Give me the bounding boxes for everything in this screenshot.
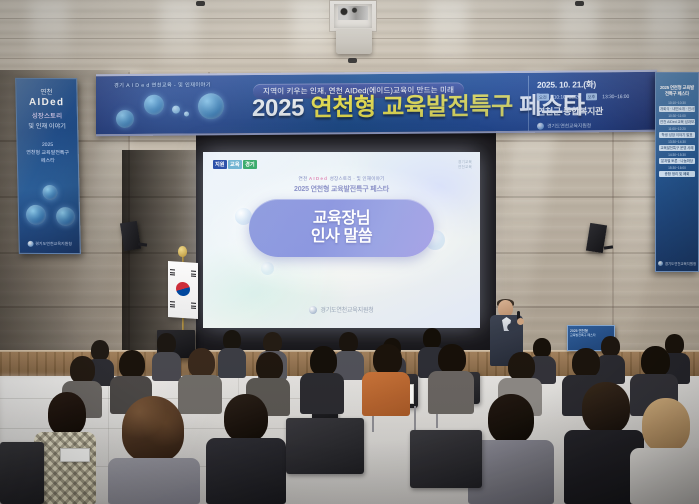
decorative-orb	[184, 111, 189, 116]
audience-chair	[410, 430, 482, 488]
banner-time-am: 10:10~12:20	[554, 94, 581, 100]
audience-member	[152, 333, 181, 381]
left-banner-sub1: 2025	[17, 142, 77, 148]
ceiling-light	[348, 58, 357, 63]
slide-footer: 경기도연천교육지원청	[203, 305, 480, 314]
projector-body	[336, 30, 372, 54]
decorative-orb	[144, 95, 164, 115]
program-row-item: 개회식 · 내빈소개 · 인사말씀	[659, 106, 695, 112]
banner-info-block: 2025. 10. 21.(화) 오전 10:10~12:20 오후 13:30…	[528, 75, 654, 132]
flag-finial	[178, 246, 187, 257]
banner-small-title: 경기 A I D e d 연천교육 - 및 인재이야기	[114, 81, 254, 89]
decorative-orb	[198, 93, 224, 119]
banner-time-pm: 13:30~16:00	[602, 94, 629, 100]
program-row-time: 13:30~14:30	[659, 140, 695, 144]
left-banner-line1: 연천	[16, 86, 76, 96]
slide-subtitle: 2025 연천형 교육발전특구 페스타	[203, 184, 480, 194]
program-row-time: 10:10~10:30	[659, 101, 695, 105]
left-banner-sub2: 연천형 교육발전특구	[18, 149, 78, 156]
program-row-time: 15:30~16:00	[659, 166, 695, 170]
program-row: 10:10~10:30개회식 · 내빈소개 · 인사말씀	[659, 101, 695, 112]
banner-chip-am: 오전	[537, 94, 549, 101]
korean-flag	[168, 261, 198, 319]
conference-photo-scene: 연천 AIDed 성장스토리 및 인재 이야기 2025 연천형 교육발전특구 …	[0, 0, 699, 504]
presenter-hand	[517, 318, 524, 325]
ceiling-light	[575, 1, 584, 6]
audience-member-blonde	[630, 398, 699, 504]
audience-member	[300, 346, 344, 414]
program-banner-org: 경기도연천교육지원청	[656, 261, 698, 266]
decorative-orb	[172, 106, 180, 114]
banner-date: 2025. 10. 21.(화)	[537, 78, 654, 91]
program-row-item: 분과별 토론 · 나눔마당	[659, 158, 695, 164]
org-mark-icon	[658, 261, 663, 266]
org-mark-icon	[309, 306, 317, 314]
left-banner-line2: AIDed	[17, 97, 77, 108]
program-row-item: 교육발전특구 운영 사례	[659, 145, 695, 151]
main-stage-banner: 경기 A I D e d 연천교육 - 및 인재이야기 지역이 키우는 인재, …	[96, 70, 657, 136]
presentation-slide: 지원 교육 경기 경기교육 연천교육 연천 AIDed 성장스토리 · 및 인재…	[203, 152, 480, 328]
left-banner-line4: 및 인재 이야기	[17, 121, 77, 130]
taeguk-symbol	[176, 282, 190, 297]
decorative-bubble	[261, 262, 274, 275]
banner-highlight: 연천형 교육발전특구	[311, 93, 513, 122]
program-row: 15:30~16:00종합 정리 및 폐회	[659, 166, 695, 177]
slide-title-line2: 인사 말씀	[311, 228, 372, 246]
banner-venue: 연천군 종합복지관	[537, 104, 654, 118]
decorative-orb	[116, 110, 134, 128]
program-banner-title: 2025 연천형 교육발전특구 페스타	[659, 85, 695, 97]
projection-screen: 지원 교육 경기 경기교육 연천교육 연천 AIDed 성장스토리 · 및 인재…	[203, 152, 480, 328]
slide-title-line1: 교육장님	[313, 210, 370, 228]
program-row-time: 11:00~12:20	[659, 127, 695, 131]
program-row-time: 14:30~15:30	[659, 153, 695, 157]
decorative-orb	[56, 207, 75, 226]
projector-mount	[329, 0, 377, 32]
audience-chair	[286, 418, 364, 474]
program-row: 10:30~11:00연천 AIDed 교육 성과보고	[659, 114, 695, 125]
org-mark-icon	[537, 123, 544, 130]
right-program-banner: 2025 연천형 교육발전특구 페스타 10:10~10:30개회식 · 내빈소…	[655, 72, 699, 272]
left-banner-sub3: 페스타	[18, 157, 78, 164]
slide-title-pill: 교육장님 인사 말씀	[249, 199, 434, 257]
slide-top-right-marks: 경기교육 연천교육	[458, 160, 472, 170]
program-row-item: 종합 정리 및 폐회	[659, 171, 695, 177]
banner-org: 경기도연천교육지원청	[537, 122, 654, 130]
poster-title: 2025 연천형	[568, 326, 614, 333]
program-row-item: 학생 성장 이야기 발표	[659, 132, 695, 138]
slide-logo: 지원 교육 경기	[213, 160, 257, 169]
program-row: 14:30~15:30분과별 토론 · 나눔마당	[659, 153, 695, 164]
slide-kicker: 연천 AIDed 성장스토리 · 및 인재이야기	[203, 176, 480, 182]
program-row: 13:30~14:30교육발전특구 운영 사례	[659, 140, 695, 151]
seat-card	[60, 448, 90, 462]
program-row-item: 연천 AIDed 교육 성과보고	[659, 119, 695, 125]
program-row: 11:00~12:20학생 성장 이야기 발표	[659, 127, 695, 138]
audience-chair	[0, 442, 44, 504]
ceiling-light	[196, 1, 205, 6]
org-mark-icon	[27, 241, 33, 247]
banner-year: 2025	[252, 95, 304, 122]
decorative-orb	[42, 185, 57, 200]
audience-member	[206, 394, 286, 504]
left-banner-line3: 성장스토리	[17, 110, 77, 120]
left-banner-org: 경기도연천교육지원청	[20, 241, 80, 247]
left-vertical-banner: 연천 AIDed 성장스토리 및 인재 이야기 2025 연천형 교육발전특구 …	[15, 78, 81, 254]
program-row-time: 10:30~11:00	[659, 114, 695, 118]
audience-member-orange-jacket	[362, 344, 410, 416]
banner-chip-pm: 오후	[586, 93, 598, 100]
audience-member-curly	[108, 396, 200, 504]
audience-member	[218, 330, 246, 378]
decorative-orb	[26, 205, 46, 225]
